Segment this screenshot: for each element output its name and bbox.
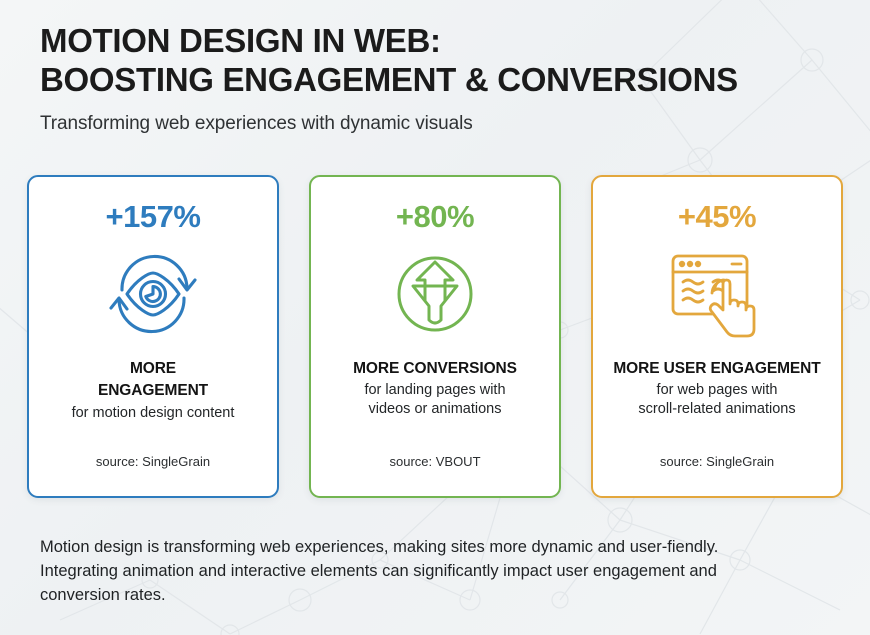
eye-refresh-icon [99, 242, 207, 346]
stat-source: source: VBOUT [311, 454, 559, 469]
header: MOTION DESIGN IN WEB: BOOSTING ENGAGEMEN… [40, 22, 800, 135]
stat-card-engagement[interactable]: +157% [27, 175, 279, 498]
stat-source: source: SingleGrain [593, 454, 841, 469]
stat-source: source: SingleGrain [29, 454, 277, 469]
stat-cards-row: +157% [27, 175, 843, 498]
card-text-block: MORE USER ENGAGEMENT for web pages with … [603, 358, 831, 419]
stat-heading: MORE CONVERSIONS [321, 358, 549, 380]
stat-card-conversions[interactable]: +80% MORE CONVERSIONS for landing pages … [309, 175, 561, 498]
funnel-arrow-icon [387, 242, 483, 346]
stat-description: for landing pages with videos or animati… [321, 381, 549, 419]
stat-heading: MORE ENGAGEMENT [39, 358, 267, 403]
stat-value: +80% [396, 201, 474, 232]
page-title: MOTION DESIGN IN WEB: BOOSTING ENGAGEMEN… [40, 22, 800, 99]
stat-description: for motion design content [39, 404, 267, 423]
stat-card-user-engagement[interactable]: +45% [591, 175, 843, 498]
stat-value: +157% [106, 201, 201, 232]
stat-heading: MORE USER ENGAGEMENT [603, 358, 831, 380]
card-text-block: MORE ENGAGEMENT for motion design conten… [39, 358, 267, 423]
footer-summary-text: Motion design is transforming web experi… [40, 536, 800, 608]
stat-description: for web pages with scroll-related animat… [603, 381, 831, 419]
stat-value: +45% [678, 201, 756, 232]
infographic-canvas: MOTION DESIGN IN WEB: BOOSTING ENGAGEMEN… [0, 0, 870, 635]
page-subtitle: Transforming web experiences with dynami… [40, 113, 800, 135]
browser-tap-icon [665, 242, 769, 346]
card-text-block: MORE CONVERSIONS for landing pages with … [321, 358, 549, 419]
